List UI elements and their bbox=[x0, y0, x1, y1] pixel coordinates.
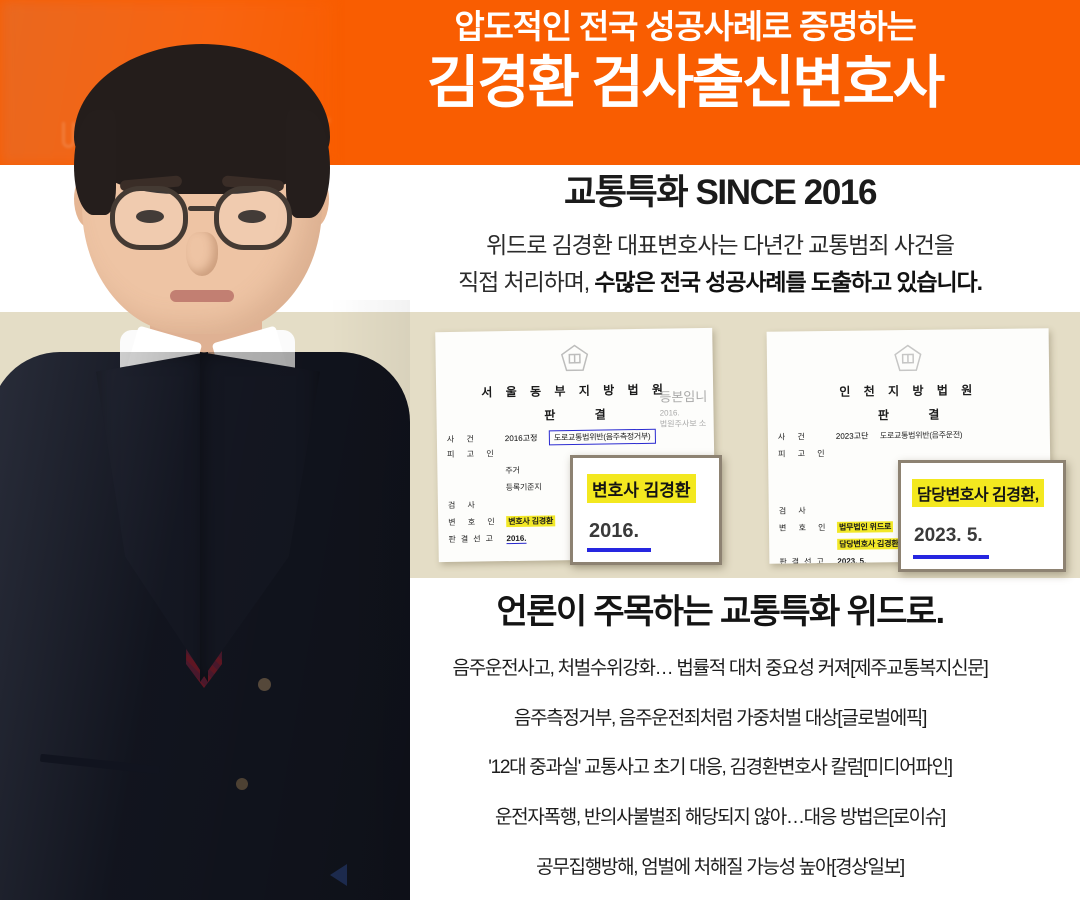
doc1-case-number: 2016고정 bbox=[505, 432, 549, 444]
hero-bg-hook-left bbox=[62, 122, 75, 148]
media-headline-item[interactable]: '12대 중과실' 교통사고 초기 대응, 김경환변호사 칼럼[미디어파인] bbox=[360, 756, 1080, 780]
doc1-charge: 도로교통법위반(음주측정거부) bbox=[549, 429, 656, 446]
doc1-label-verdict-date: 판결선고 bbox=[448, 533, 506, 545]
document-1-zoom-callout[interactable]: 변호사 김경환 2016. bbox=[570, 455, 722, 565]
media-coverage-block: 언론이 주목하는 교통특화 위드로. 음주운전사고, 처벌수위강화… 법률적 대… bbox=[360, 592, 1080, 880]
intro-line-1: 위드로 김경환 대표변호사는 다년간 교통범죄 사건을 bbox=[370, 230, 1070, 261]
doc1-stamp-line-2: 2016. bbox=[660, 407, 708, 419]
doc2-label-prosecutor: 검 사 bbox=[779, 505, 837, 517]
doc1-label-prosecutor: 검 사 bbox=[448, 499, 506, 511]
media-headline-item[interactable]: 공무집행방해, 엄벌에 처해질 가능성 높아[경상일보] bbox=[360, 856, 1080, 880]
hero-bg-blur bbox=[0, 0, 330, 165]
doc1-stamp-line-1: 등본임니 bbox=[659, 388, 707, 408]
doc2-label-verdict-date: 판결선고 bbox=[779, 556, 837, 564]
doc1-label-blank-2 bbox=[448, 490, 506, 491]
intro-line-2-plain: 직접 처리하며, bbox=[458, 269, 594, 295]
callout2-date: 2023. 5. bbox=[914, 525, 983, 547]
doc1-highlight-lawyer: 변호사 김경환 bbox=[506, 515, 555, 527]
poster-root: 압도적인 전국 성공사례로 증명하는 김경환 검사출신변호사 교통특화 SINC… bbox=[0, 0, 1080, 900]
doc1-value-registry: 등록기준지 bbox=[506, 482, 542, 494]
intro-block: 교통특화 SINCE 2016 위드로 김경환 대표변호사는 다년간 교통범죄 … bbox=[370, 172, 1070, 298]
media-headline-item[interactable]: 음주운전사고, 처벌수위강화… 법률적 대처 중요성 커져[제주교통복지신문] bbox=[360, 657, 1080, 681]
hero-headline-block: 압도적인 전국 성공사례로 증명하는 김경환 검사출신변호사 bbox=[300, 8, 1070, 116]
court-emblem-icon bbox=[893, 344, 923, 374]
since-title: 교통특화 SINCE 2016 bbox=[370, 172, 1070, 214]
doc2-label-blank-1 bbox=[778, 465, 836, 466]
media-headline-item[interactable]: 운전자폭행, 반의사불벌죄 해당되지 않아…대응 방법은[로이슈] bbox=[360, 806, 1080, 830]
doc2-highlight-lawyer: 담당변호사 김경환, bbox=[837, 538, 902, 550]
play-arrow-icon[interactable] bbox=[330, 864, 347, 886]
hero-title: 김경환 검사출신변호사 bbox=[300, 52, 1070, 116]
callout2-highlight-lawyer: 담당변호사 김경환, bbox=[912, 479, 1044, 507]
callout1-blue-underline bbox=[587, 548, 651, 552]
media-headline-list: 음주운전사고, 처벌수위강화… 법률적 대처 중요성 커져[제주교통복지신문] … bbox=[360, 657, 1080, 880]
document-2-zoom-callout[interactable]: 담당변호사 김경환, 2023. 5. bbox=[898, 460, 1066, 572]
doc2-charge: 도로교통법위반(음주운전) bbox=[880, 429, 963, 441]
intro-line-2: 직접 처리하며, 수많은 전국 성공사례를 도출하고 있습니다. bbox=[370, 267, 1070, 298]
doc2-document-kind: 판 결 bbox=[768, 404, 1050, 424]
court-emblem-icon bbox=[559, 344, 589, 374]
hero-subtitle: 압도적인 전국 성공사례로 증명하는 bbox=[300, 8, 1070, 46]
doc2-court-name: 인 천 지 방 법 원 bbox=[767, 380, 1049, 400]
doc1-verdict-date: 2016. bbox=[506, 534, 526, 544]
doc2-label-defendant: 피 고 인 bbox=[778, 448, 836, 460]
doc1-certification-stamp: 등본임니 2016. 법원주사보 소 bbox=[659, 388, 707, 431]
intro-line-2-bold: 수많은 전국 성공사례를 도출하고 있습니다. bbox=[594, 269, 982, 295]
doc1-label-case: 사 건 bbox=[447, 433, 505, 445]
doc1-label-defendant: 피 고 인 bbox=[447, 448, 505, 460]
callout1-date: 2016. bbox=[589, 520, 639, 543]
callout1-highlight-lawyer: 변호사 김경환 bbox=[587, 474, 696, 503]
doc2-case-number: 2023고단 bbox=[836, 430, 880, 442]
doc2-label-case: 사 건 bbox=[778, 431, 836, 443]
doc1-label-blank-1 bbox=[447, 473, 505, 474]
doc2-label-defense-counsel: 변 호 인 bbox=[779, 522, 837, 534]
hero-bg-hook-right bbox=[290, 122, 303, 148]
doc1-value-address: 주거 bbox=[505, 465, 519, 476]
doc2-label-blank-2 bbox=[779, 547, 837, 548]
media-headline-item[interactable]: 음주측정거부, 음주운전죄처럼 가중처벌 대상[글로벌에픽] bbox=[360, 707, 1080, 731]
doc1-label-defense-counsel: 변 호 인 bbox=[448, 516, 506, 528]
callout2-blue-underline bbox=[913, 555, 989, 559]
media-section-title: 언론이 주목하는 교통특화 위드로. bbox=[360, 592, 1080, 633]
doc2-highlight-law-firm: 법무법인 위드로 bbox=[837, 521, 893, 533]
